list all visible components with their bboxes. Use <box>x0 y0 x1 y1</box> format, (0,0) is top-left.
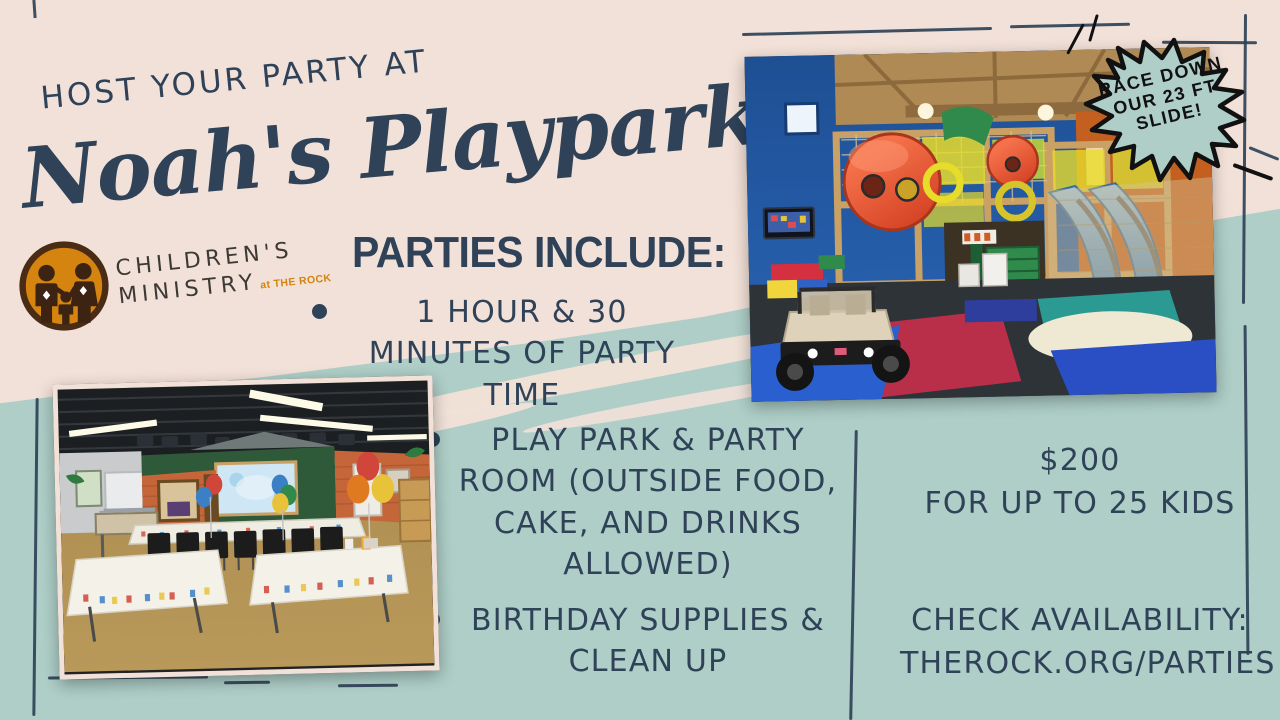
pricing-block: $200 FOR UP TO 25 KIDS <box>900 440 1260 525</box>
childrens-ministry-logo: CHILDREN'S MINISTRY at THE ROCK <box>18 240 310 338</box>
cta-label: CHECK AVAILABILITY: <box>900 600 1260 643</box>
partyroom-photo <box>52 375 439 679</box>
cta-url[interactable]: THEROCK.ORG/PARTIES <box>900 643 1260 686</box>
poster-canvas: HOST YOUR PARTY AT Noah's Playpark! <box>0 0 1280 720</box>
slide-callout-burst: RACE DOWN OUR 23 FT SLIDE! <box>1078 34 1250 186</box>
logo-wordmark: CHILDREN'S MINISTRY at THE ROCK <box>114 236 321 336</box>
parties-include-heading: PARTIES INCLUDE: <box>352 228 726 278</box>
price-amount: $200 <box>900 440 1260 483</box>
list-item-label: BIRTHDAY SUPPLIES & CLEAN UP <box>458 600 838 683</box>
cta-block: CHECK AVAILABILITY: THEROCK.ORG/PARTIES <box>900 600 1260 685</box>
list-item: BIRTHDAY SUPPLIES & CLEAN UP <box>425 600 838 683</box>
family-circle-logo-icon <box>18 240 110 332</box>
price-detail: FOR UP TO 25 KIDS <box>900 483 1260 526</box>
list-item-label: PLAY PARK & PARTY ROOM (OUTSIDE FOOD, CA… <box>458 420 838 586</box>
list-item: PLAY PARK & PARTY ROOM (OUTSIDE FOOD, CA… <box>425 420 838 586</box>
bullet-dot-icon <box>312 304 327 319</box>
